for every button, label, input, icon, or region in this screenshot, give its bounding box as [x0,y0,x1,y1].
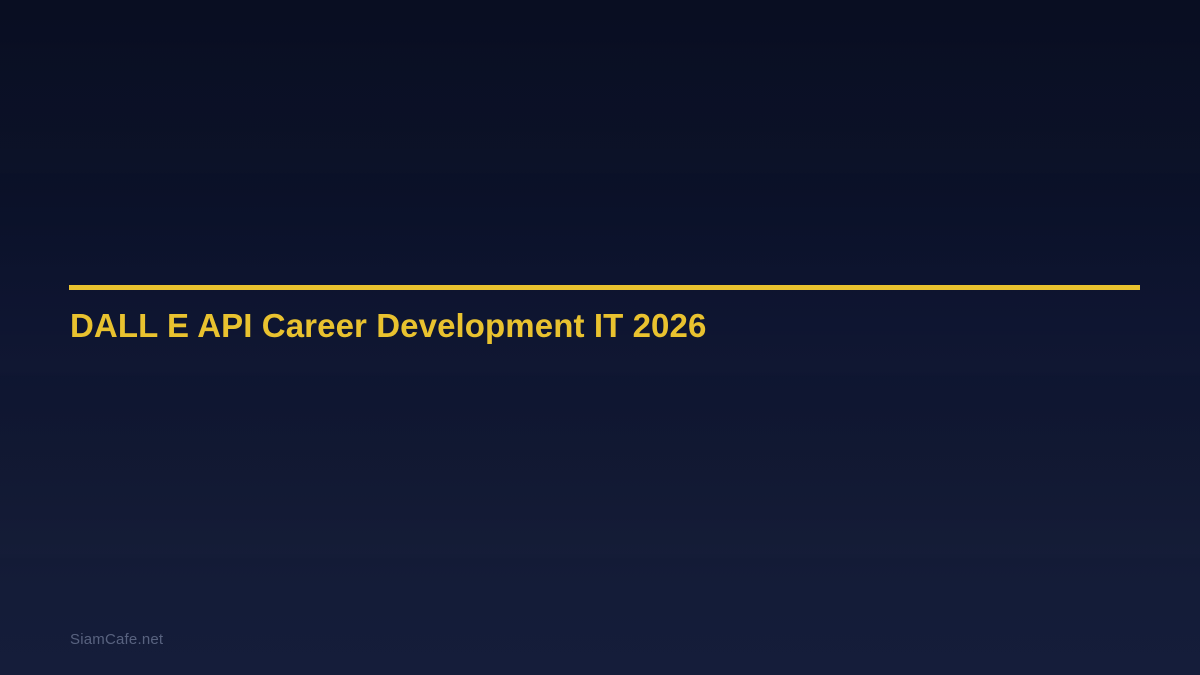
watermark-label: SiamCafe.net [70,630,163,650]
accent-rule-divider [69,285,1140,290]
presentation-slide: DALL E API Career Development IT 2026 Si… [0,0,1200,675]
page-title: DALL E API Career Development IT 2026 [70,306,706,346]
title-block: DALL E API Career Development IT 2026 [69,285,1140,290]
